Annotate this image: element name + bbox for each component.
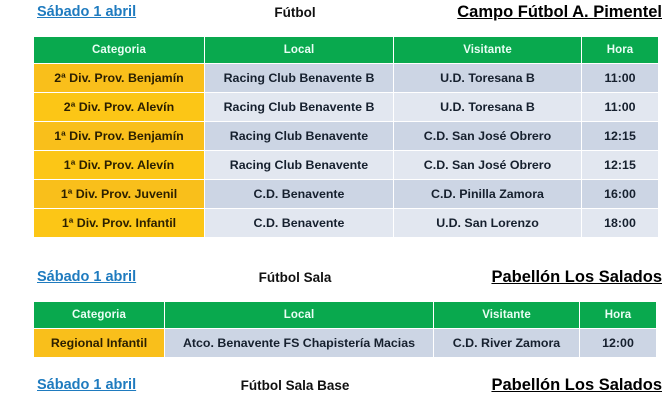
cell-local: Racing Club Benavente: [205, 151, 393, 179]
table-row: 1ª Div. Prov. Juvenil C.D. Benavente C.D…: [34, 180, 658, 208]
section-date-futbolsalabase[interactable]: Sábado 1 abril: [37, 377, 217, 393]
section-header-futbolsala: Sábado 1 abril Fútbol Sala Pabellón Los …: [0, 269, 670, 299]
cell-local: Racing Club Benavente B: [205, 93, 393, 121]
table-header-row: Categoria Local Visitante Hora: [34, 37, 658, 63]
section-sport-futbol: Fútbol: [200, 5, 390, 20]
cell-local: Racing Club Benavente: [205, 122, 393, 150]
schedule-table-futbolsala: Categoria Local Visitante Hora Regional …: [33, 301, 657, 358]
cell-categoria: 2ª Div. Prov. Benjamín: [34, 64, 204, 92]
cell-hora: 11:00: [582, 64, 658, 92]
cell-categoria: 1ª Div. Prov. Alevín: [34, 151, 204, 179]
cell-visitante: C.D. River Zamora: [434, 329, 579, 357]
table-row: 1ª Div. Prov. Benjamín Racing Club Benav…: [34, 122, 658, 150]
cell-visitante: C.D. Pinilla Zamora: [394, 180, 581, 208]
cell-visitante: U.D. Toresana B: [394, 93, 581, 121]
cell-categoria: 2ª Div. Prov. Alevín: [34, 93, 204, 121]
cell-hora: 12:00: [580, 329, 656, 357]
section-venue-futbolsalabase[interactable]: Pabellón Los Salados: [491, 376, 662, 395]
table-row: 2ª Div. Prov. Alevín Racing Club Benaven…: [34, 93, 658, 121]
table-header-row: Categoria Local Visitante Hora: [34, 302, 656, 328]
schedule-table-futbol: Categoria Local Visitante Hora 2ª Div. P…: [33, 36, 659, 238]
cell-hora: 11:00: [582, 93, 658, 121]
table-row: 1ª Div. Prov. Infantil C.D. Benavente U.…: [34, 209, 658, 237]
section-header-futbolsalabase: Sábado 1 abril Fútbol Sala Base Pabellón…: [0, 377, 670, 407]
section-date-futbolsala[interactable]: Sábado 1 abril: [37, 269, 217, 285]
cell-categoria: 1ª Div. Prov. Juvenil: [34, 180, 204, 208]
cell-categoria: 1ª Div. Prov. Benjamín: [34, 122, 204, 150]
table-row: 1ª Div. Prov. Alevín Racing Club Benaven…: [34, 151, 658, 179]
cell-visitante: U.D. Toresana B: [394, 64, 581, 92]
cell-hora: 12:15: [582, 151, 658, 179]
column-header-visitante: Visitante: [434, 302, 579, 328]
column-header-categoria: Categoria: [34, 302, 164, 328]
column-header-hora: Hora: [582, 37, 658, 63]
cell-hora: 16:00: [582, 180, 658, 208]
column-header-visitante: Visitante: [394, 37, 581, 63]
cell-local: Atco. Benavente FS Chapistería Macias: [165, 329, 433, 357]
section-sport-futbolsala: Fútbol Sala: [200, 270, 390, 285]
section-header-futbol: Sábado 1 abril Fútbol Campo Fútbol A. Pi…: [0, 4, 670, 34]
cell-local: Racing Club Benavente B: [205, 64, 393, 92]
section-date-futbol[interactable]: Sábado 1 abril: [37, 4, 217, 20]
cell-local: C.D. Benavente: [205, 209, 393, 237]
column-header-hora: Hora: [580, 302, 656, 328]
section-venue-futbol[interactable]: Campo Fútbol A. Pimentel: [457, 3, 662, 22]
cell-hora: 12:15: [582, 122, 658, 150]
section-venue-futbolsala[interactable]: Pabellón Los Salados: [491, 268, 662, 287]
cell-categoria: Regional Infantil: [34, 329, 164, 357]
cell-local: C.D. Benavente: [205, 180, 393, 208]
cell-visitante: C.D. San José Obrero: [394, 151, 581, 179]
section-sport-futbolsalabase: Fútbol Sala Base: [200, 378, 390, 393]
cell-categoria: 1ª Div. Prov. Infantil: [34, 209, 204, 237]
cell-visitante: C.D. San José Obrero: [394, 122, 581, 150]
cell-visitante: U.D. San Lorenzo: [394, 209, 581, 237]
table-row: 2ª Div. Prov. Benjamín Racing Club Benav…: [34, 64, 658, 92]
column-header-categoria: Categoria: [34, 37, 204, 63]
column-header-local: Local: [165, 302, 433, 328]
table-row: Regional Infantil Atco. Benavente FS Cha…: [34, 329, 656, 357]
cell-hora: 18:00: [582, 209, 658, 237]
column-header-local: Local: [205, 37, 393, 63]
